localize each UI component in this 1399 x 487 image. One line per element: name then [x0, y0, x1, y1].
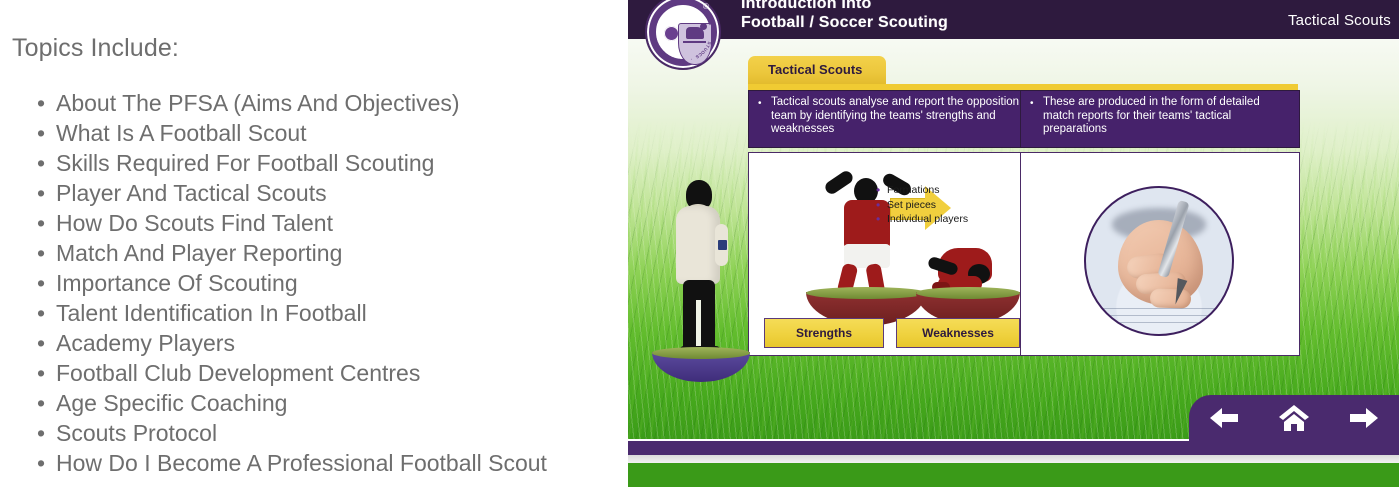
tab-label: Tactical Scouts — [768, 62, 862, 77]
topic-label: Talent Identification In Football — [56, 300, 367, 326]
topic-label: Football Club Development Centres — [56, 360, 420, 386]
statement-box-right: • These are produced in the form of deta… — [1020, 90, 1300, 148]
scout-legs — [683, 280, 715, 352]
slide-section-label: Tactical Scouts — [1288, 12, 1391, 29]
bullet-icon: • — [37, 388, 45, 418]
statement-text: These are produced in the form of detail… — [1043, 96, 1293, 137]
list-item: •What Is A Football Scout — [56, 118, 547, 148]
bullet-icon: • — [758, 98, 762, 110]
bullet-icon: • — [37, 358, 45, 388]
statement-text: Tactical scouts analyse and report the o… — [771, 96, 1031, 137]
bullet-icon: • — [876, 212, 880, 227]
bullet-icon: • — [37, 298, 45, 328]
slide-footer-strip — [628, 439, 1399, 455]
bullet-icon: • — [37, 238, 45, 268]
bullet-icon: • — [1030, 98, 1034, 110]
slide-bottom-edge — [628, 455, 1399, 463]
topic-label: Player And Tactical Scouts — [56, 180, 327, 206]
slide-title-line1: Introduction Into — [741, 0, 948, 13]
bullet-icon: • — [876, 198, 880, 213]
bullet-icon: • — [37, 148, 45, 178]
bullet-icon: • — [37, 88, 45, 118]
focus-label: Formations — [887, 184, 940, 196]
slide-header-bar: Introduction Into Football / Soccer Scou… — [628, 0, 1399, 39]
base-top — [916, 287, 1020, 299]
clipboard-icon — [718, 240, 727, 250]
list-item: •Player And Tactical Scouts — [56, 178, 547, 208]
topic-label: Scouts Protocol — [56, 420, 217, 446]
arrow-right-icon — [1349, 406, 1379, 430]
list-item: •Match And Player Reporting — [56, 238, 547, 268]
seal-lettering: PROFESSIONAL · FOOTBALLASSOCIATION · SCO… — [645, 0, 721, 70]
list-item: •Importance Of Scouting — [56, 268, 547, 298]
tab-tactical-scouts[interactable]: Tactical Scouts — [748, 56, 886, 84]
list-item: •Set pieces — [887, 198, 968, 213]
list-item: •How Do I Become A Professional Football… — [56, 448, 547, 478]
list-item: •Individual players — [887, 212, 968, 227]
base-top — [806, 287, 926, 299]
nav-home-button[interactable] — [1272, 401, 1316, 435]
slide-title: Introduction Into Football / Soccer Scou… — [741, 0, 948, 32]
page-title: Topics Include: — [12, 34, 179, 63]
finger-3 — [1150, 288, 1192, 308]
list-item: •Academy Players — [56, 328, 547, 358]
label-text: Strengths — [796, 326, 852, 340]
arrow-left-icon — [1209, 406, 1239, 430]
slide-viewer: Introduction Into Football / Soccer Scou… — [628, 0, 1399, 487]
bullet-icon: • — [37, 118, 45, 148]
paper-line — [1098, 315, 1221, 316]
slide-title-line2: Football / Soccer Scouting — [741, 13, 948, 32]
nav-back-button[interactable] — [1202, 401, 1246, 435]
writing-hand-photo — [1084, 186, 1234, 336]
nav-next-button[interactable] — [1342, 401, 1386, 435]
focus-label: Set pieces — [887, 199, 936, 211]
home-icon — [1279, 405, 1309, 431]
topic-label: How Do Scouts Find Talent — [56, 210, 333, 236]
topic-label: About The PFSA (Aims And Objectives) — [56, 90, 460, 116]
paper-line — [1098, 308, 1221, 309]
label-weaknesses: Weaknesses — [896, 318, 1020, 348]
topic-label: Importance Of Scouting — [56, 270, 298, 296]
label-strengths: Strengths — [764, 318, 884, 348]
topic-label: Skills Required For Football Scouting — [56, 150, 434, 176]
list-item: •Talent Identification In Football — [56, 298, 547, 328]
statement-box-left: • Tactical scouts analyse and report the… — [748, 90, 1038, 148]
list-item: •Formations — [887, 183, 968, 198]
bullet-icon: • — [37, 418, 45, 448]
topic-label: Age Specific Coaching — [56, 390, 287, 416]
list-item: •How Do Scouts Find Talent — [56, 208, 547, 238]
bullet-icon: • — [37, 208, 45, 238]
focus-label: Individual players — [887, 213, 968, 225]
topics-panel: Topics Include: •About The PFSA (Aims An… — [0, 0, 628, 487]
topic-label: How Do I Become A Professional Football … — [56, 450, 547, 476]
topics-list: •About The PFSA (Aims And Objectives) •W… — [30, 88, 547, 478]
player-arm-left — [823, 169, 855, 197]
bullet-icon: • — [37, 448, 45, 478]
label-text: Weaknesses — [922, 326, 994, 340]
topic-label: Academy Players — [56, 330, 235, 356]
topic-label: Match And Player Reporting — [56, 240, 342, 266]
slide-navigation-bar — [1189, 395, 1399, 441]
topic-label: What Is A Football Scout — [56, 120, 307, 146]
registered-trademark: ® — [703, 2, 709, 11]
bullet-icon: • — [37, 328, 45, 358]
paper-line — [1098, 322, 1221, 323]
tactical-focus-list: •Formations •Set pieces •Individual play… — [876, 183, 968, 227]
list-item: •Age Specific Coaching — [56, 388, 547, 418]
bullet-icon: • — [37, 178, 45, 208]
scout-figure-illustration — [672, 180, 730, 360]
list-item: •About The PFSA (Aims And Objectives) — [56, 88, 547, 118]
scout-figure-base — [652, 352, 750, 382]
list-item: •Skills Required For Football Scouting — [56, 148, 547, 178]
pfsa-logo-icon: PROFESSIONAL · FOOTBALLASSOCIATION · SCO… — [645, 0, 721, 70]
bullet-icon: • — [876, 183, 880, 198]
list-item: •Football Club Development Centres — [56, 358, 547, 388]
list-item: •Scouts Protocol — [56, 418, 547, 448]
bullet-icon: • — [37, 268, 45, 298]
base-top — [652, 347, 750, 359]
scout-coat — [676, 206, 720, 284]
